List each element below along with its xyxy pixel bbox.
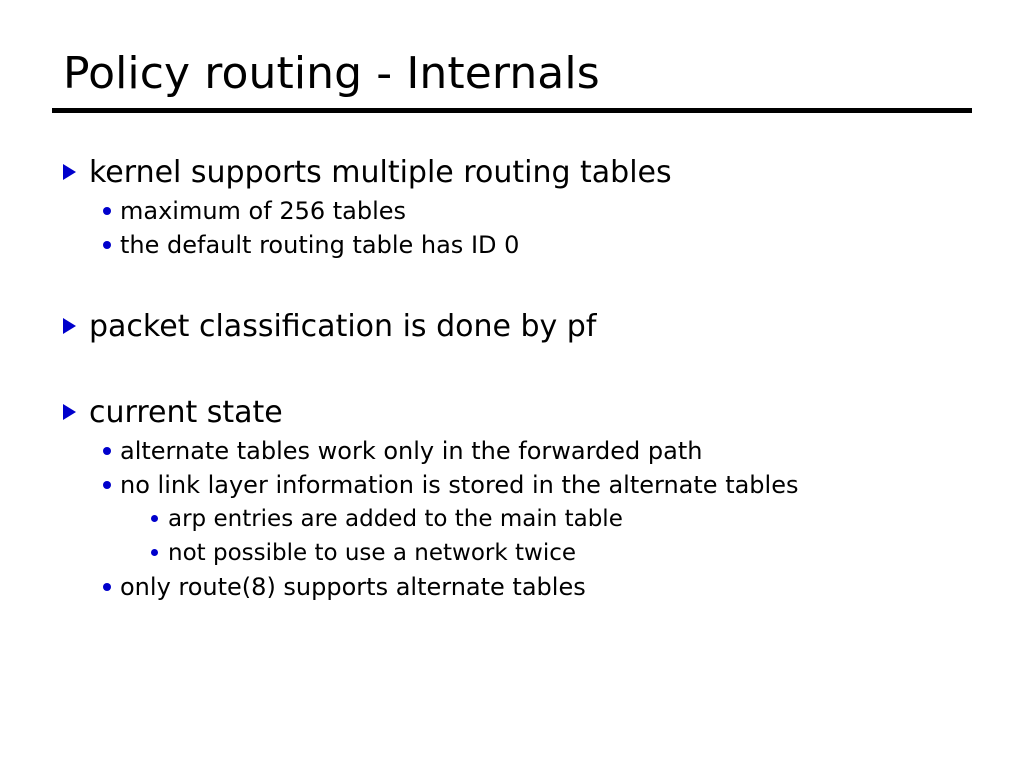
bullet-text: not possible to use a network twice [168, 536, 1003, 570]
round-dot-icon [103, 227, 120, 261]
bullet-text: alternate tables work only in the forwar… [120, 434, 1003, 468]
title-block: Policy routing - Internals [52, 46, 972, 113]
bullet-text: only route(8) supports alternate tables [120, 570, 1003, 604]
round-dot-icon [103, 569, 120, 603]
bullet-level2: the default routing table has ID 0 [63, 228, 1003, 262]
triangle-right-icon [63, 304, 89, 346]
round-dot-icon [151, 535, 168, 569]
bullet-level1: kernel supports multiple routing tables [63, 152, 1003, 194]
bullet-text: no link layer information is stored in t… [120, 468, 1003, 502]
bullet-level2: only route(8) supports alternate tables [63, 570, 1003, 604]
bullet-group: packet classification is done by pf [63, 306, 1003, 348]
bullet-level1: packet classification is done by pf [63, 306, 1003, 348]
round-dot-icon [103, 467, 120, 501]
bullet-level2: no link layer information is stored in t… [63, 468, 1003, 502]
bullet-level1: current state [63, 392, 1003, 434]
bullet-text: kernel supports multiple routing tables [89, 152, 1003, 194]
triangle-right-icon [63, 390, 89, 432]
page-title: Policy routing - Internals [52, 46, 972, 102]
bullet-level2: alternate tables work only in the forwar… [63, 434, 1003, 468]
bullet-text: packet classification is done by pf [89, 306, 1003, 348]
title-divider [52, 108, 972, 113]
bullet-text: arp entries are added to the main table [168, 502, 1003, 536]
bullet-group: kernel supports multiple routing tables … [63, 152, 1003, 262]
bullet-level3: not possible to use a network twice [63, 536, 1003, 570]
round-dot-icon [103, 433, 120, 467]
round-dot-icon [103, 193, 120, 227]
round-dot-icon [151, 501, 168, 535]
triangle-right-icon [63, 150, 89, 192]
presentation-slide: Policy routing - Internals kernel suppor… [0, 0, 1024, 768]
bullet-group: current state alternate tables work only… [63, 392, 1003, 604]
bullet-list: kernel supports multiple routing tables … [63, 152, 1003, 604]
bullet-text: the default routing table has ID 0 [120, 228, 1003, 262]
bullet-text: maximum of 256 tables [120, 194, 1003, 228]
bullet-level3: arp entries are added to the main table [63, 502, 1003, 536]
bullet-text: current state [89, 392, 1003, 434]
bullet-level2: maximum of 256 tables [63, 194, 1003, 228]
